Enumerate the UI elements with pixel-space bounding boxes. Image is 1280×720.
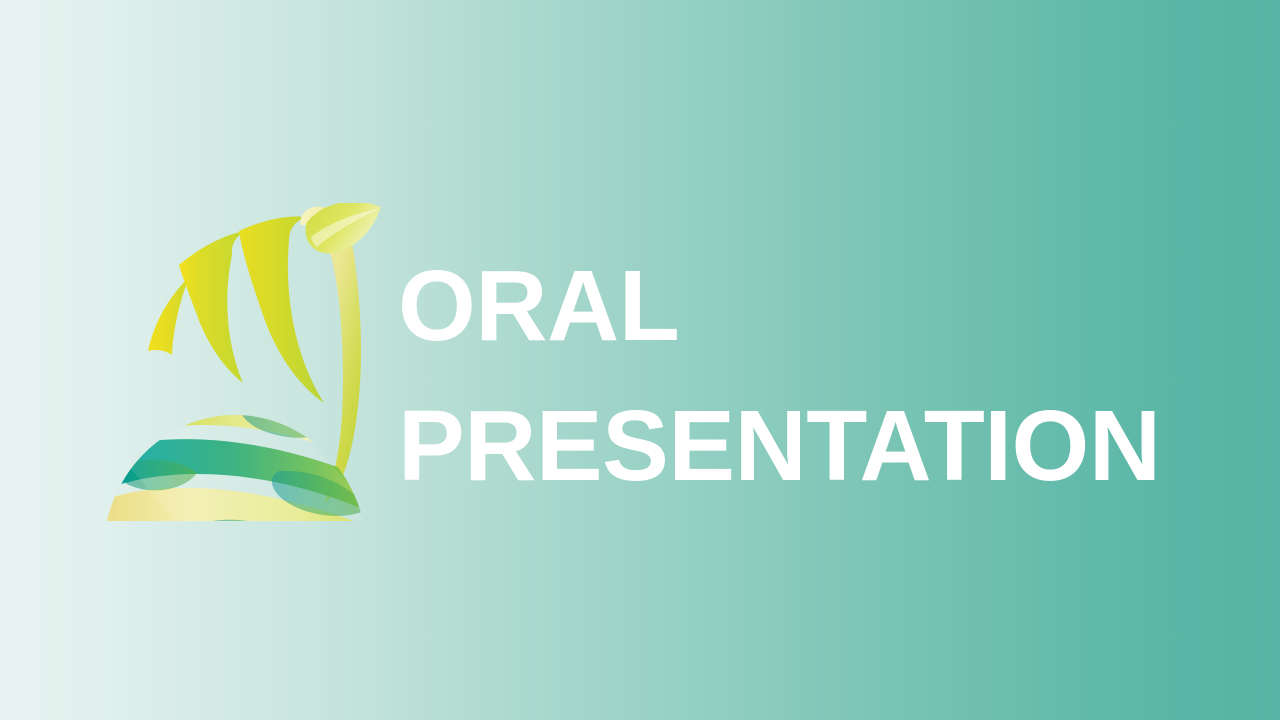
- band-upper-2: [179, 231, 245, 383]
- presentation-slide: ORAL PRESENTATION: [0, 0, 1280, 720]
- logo-globe-bands: [93, 333, 383, 521]
- globe-ribbon-leaf-logo: [93, 203, 383, 521]
- logo-svg: [93, 203, 383, 521]
- band-tip-left: [148, 277, 189, 355]
- title-line-2: PRESENTATION: [398, 376, 1218, 516]
- title-line-1: ORAL: [398, 236, 1218, 376]
- title-block: ORAL PRESENTATION: [398, 236, 1218, 516]
